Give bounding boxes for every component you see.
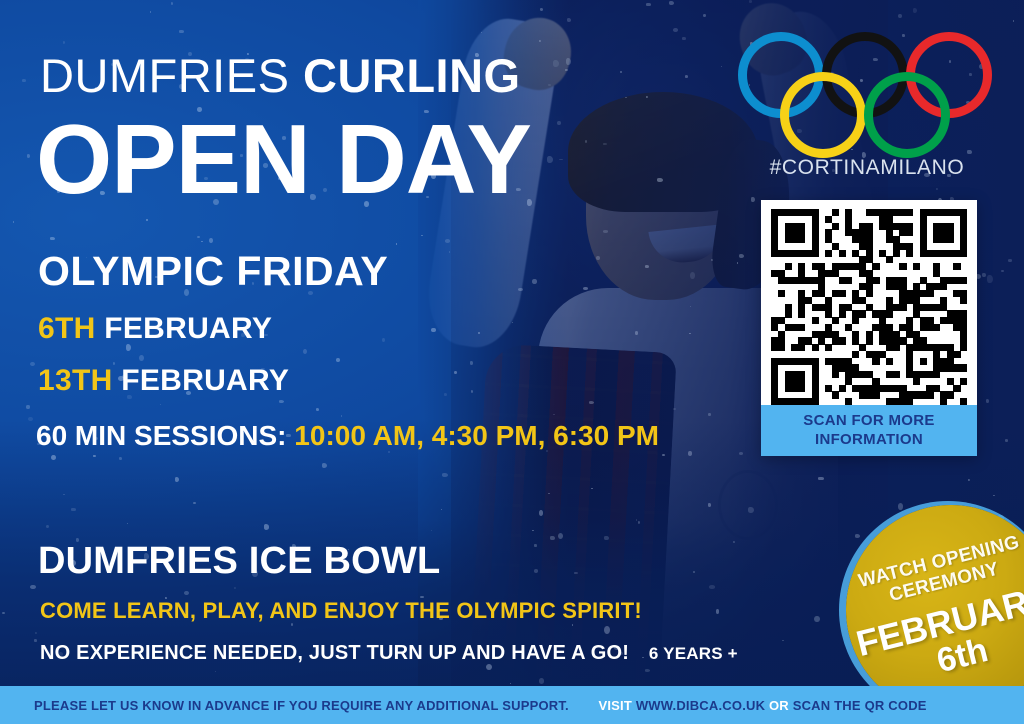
- sessions-label: 60 MIN SESSIONS:: [36, 420, 287, 451]
- date-line-2: 13TH FEBRUARY: [38, 364, 289, 398]
- footer-support-note: PLEASE LET US KNOW IN ADVANCE IF YOU REQ…: [34, 698, 569, 713]
- sessions-line: 60 MIN SESSIONS: 10:00 AM, 4:30 PM, 6:30…: [36, 420, 659, 452]
- page-title: OPEN DAY: [36, 110, 531, 208]
- qr-code-icon[interactable]: [771, 209, 967, 405]
- curling-open-day-poster: DUMFRIES CURLING OPEN DAY OLYMPIC FRIDAY…: [0, 0, 1024, 724]
- date-2-day: 13TH: [38, 364, 113, 397]
- footer-text: PLEASE LET US KNOW IN ADVANCE IF YOU REQ…: [34, 698, 927, 713]
- date-2-month: FEBRUARY: [121, 364, 289, 397]
- poster-content: DUMFRIES CURLING OPEN DAY OLYMPIC FRIDAY…: [0, 0, 1024, 724]
- olympic-ring-yellow-icon: [780, 72, 866, 158]
- qr-code-block[interactable]: SCAN FOR MORE INFORMATION: [761, 200, 977, 456]
- venue-name: DUMFRIES ICE BOWL: [38, 540, 440, 583]
- no-experience-note: NO EXPERIENCE NEEDED, JUST TURN UP AND H…: [40, 642, 738, 665]
- no-experience-text: NO EXPERIENCE NEEDED, JUST TURN UP AND H…: [40, 642, 629, 664]
- footer-bar: PLEASE LET US KNOW IN ADVANCE IF YOU REQ…: [0, 686, 1024, 724]
- subheading-olympic-friday: OLYMPIC FRIDAY: [38, 248, 388, 295]
- olympic-ring-green-icon: [864, 72, 950, 158]
- kicker-curling: CURLING: [303, 49, 521, 102]
- date-1-day: 6TH: [38, 312, 96, 345]
- footer-website-link[interactable]: WWW.DIBCA.CO.UK: [636, 698, 765, 713]
- footer-scan-note: SCAN THE QR CODE: [793, 698, 927, 713]
- footer-visit-label: VISIT: [598, 698, 632, 713]
- ceremony-badge: WATCH OPENING CEREMONY FEBRUARY 6th: [846, 505, 1024, 715]
- kicker-dumfries: DUMFRIES: [40, 49, 289, 102]
- kicker-heading: DUMFRIES CURLING: [40, 52, 521, 99]
- date-1-month: FEBRUARY: [104, 312, 272, 345]
- qr-caption: SCAN FOR MORE INFORMATION: [761, 405, 977, 456]
- tagline: COME LEARN, PLAY, AND ENJOY THE OLYMPIC …: [40, 598, 642, 624]
- footer-or-label: OR: [769, 698, 789, 713]
- olympic-rings-icon: [736, 28, 998, 140]
- sessions-times: 10:00 AM, 4:30 PM, 6:30 PM: [294, 420, 659, 451]
- age-requirement: 6 YEARS +: [649, 644, 738, 663]
- qr-caption-line-2: INFORMATION: [815, 431, 923, 450]
- qr-caption-line-1: SCAN FOR MORE: [803, 412, 934, 431]
- ceremony-badge-content: WATCH OPENING CEREMONY FEBRUARY 6th: [846, 505, 1024, 715]
- olympic-hashtag: #CORTINAMILANO: [736, 156, 998, 180]
- date-line-1: 6TH FEBRUARY: [38, 312, 272, 346]
